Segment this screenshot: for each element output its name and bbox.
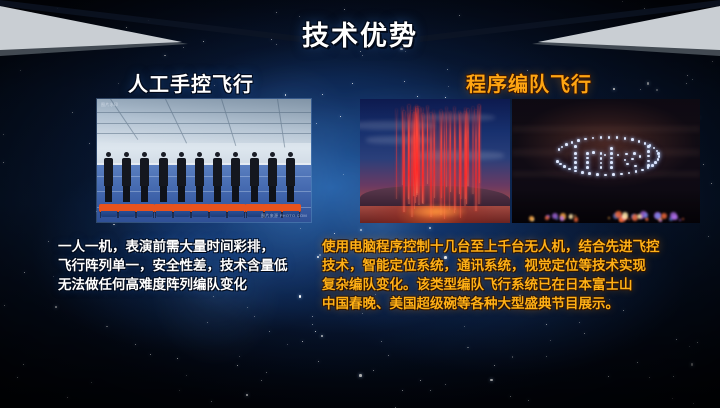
right-column-body: 使用电脑程序控制十几台至上千台无人机，结合先进飞控 技术，智能定位系统，通讯系统… — [322, 237, 704, 313]
pilot-figure — [140, 152, 149, 202]
left-column-body: 一人一机，表演前需大量时间彩排， 飞行阵列单一，安全性差，技术含量低 无法做任何… — [58, 237, 324, 294]
drone-unit — [190, 204, 210, 212]
audience-silhouette — [512, 191, 700, 223]
drone-unit — [154, 204, 174, 212]
intel-drone-formation-icon — [553, 131, 658, 178]
drone-unit — [117, 204, 137, 212]
drone-unit — [281, 204, 301, 212]
photo-watermark-topleft: 图片水印 — [101, 102, 118, 108]
drone-unit — [263, 204, 283, 212]
pilot-figure — [104, 152, 113, 202]
drone-light-trails — [393, 104, 480, 211]
slide-title: 技术优势 — [0, 14, 720, 53]
right-column-heading: 程序编队飞行 — [466, 68, 592, 97]
drone-unit — [172, 204, 192, 212]
pilot-figure — [231, 152, 240, 202]
pilot-figure — [177, 152, 186, 202]
manual-flight-photo: 图片水印 图片来源 PHOTO.COM — [97, 99, 311, 222]
ground-glow — [405, 204, 468, 219]
pilot-figure — [195, 152, 204, 202]
drone-unit — [245, 204, 265, 212]
photo-watermark-bottomright: 图片来源 PHOTO.COM — [261, 213, 307, 219]
intel-formation-photo — [512, 99, 700, 223]
pilot-figure — [159, 152, 168, 202]
pilot-figure — [213, 152, 222, 202]
roof-beams — [97, 99, 311, 148]
drone-unit — [208, 204, 228, 212]
slide-canvas: 技术优势 人工手控飞行 程序编队飞行 图片水印 图片来源 PHOTO.COM — [0, 0, 720, 408]
drone-unit — [135, 204, 155, 212]
light-trails-photo — [360, 99, 510, 223]
drone-unit — [99, 204, 119, 212]
drone-unit — [226, 204, 246, 212]
pilot-figure — [250, 152, 259, 202]
left-column-heading: 人工手控飞行 — [128, 68, 254, 97]
pilot-figure — [286, 152, 295, 202]
pilot-figure — [122, 152, 131, 202]
pilot-figure — [268, 152, 277, 202]
